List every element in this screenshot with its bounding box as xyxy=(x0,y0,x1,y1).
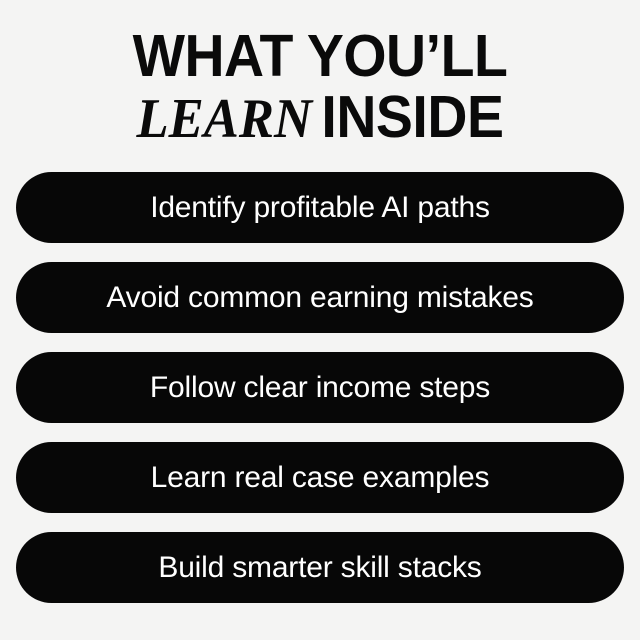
heading-word-learn: LEARN xyxy=(136,88,321,150)
list-item[interactable]: Build smarter skill stacks xyxy=(16,532,624,603)
benefit-list: Identify profitable AI paths Avoid commo… xyxy=(16,172,624,603)
list-item[interactable]: Avoid common earning mistakes xyxy=(16,262,624,333)
list-item[interactable]: Learn real case examples xyxy=(16,442,624,513)
list-item[interactable]: Follow clear income steps xyxy=(16,352,624,423)
poster-canvas: WHAT YOU’LL LEARNINSIDE Identify profita… xyxy=(0,0,640,640)
heading-word-inside: INSIDE xyxy=(321,84,503,150)
list-item-label: Avoid common earning mistakes xyxy=(106,283,533,313)
list-item-label: Build smarter skill stacks xyxy=(158,553,481,583)
heading-line-2: LEARNINSIDE xyxy=(19,89,621,147)
list-item-label: Identify profitable AI paths xyxy=(150,193,490,223)
heading-line-1: WHAT YOU’LL xyxy=(19,28,621,85)
list-item-label: Follow clear income steps xyxy=(150,373,490,403)
list-item[interactable]: Identify profitable AI paths xyxy=(16,172,624,243)
page-title: WHAT YOU’LL LEARNINSIDE xyxy=(0,28,640,146)
list-item-label: Learn real case examples xyxy=(151,463,490,493)
